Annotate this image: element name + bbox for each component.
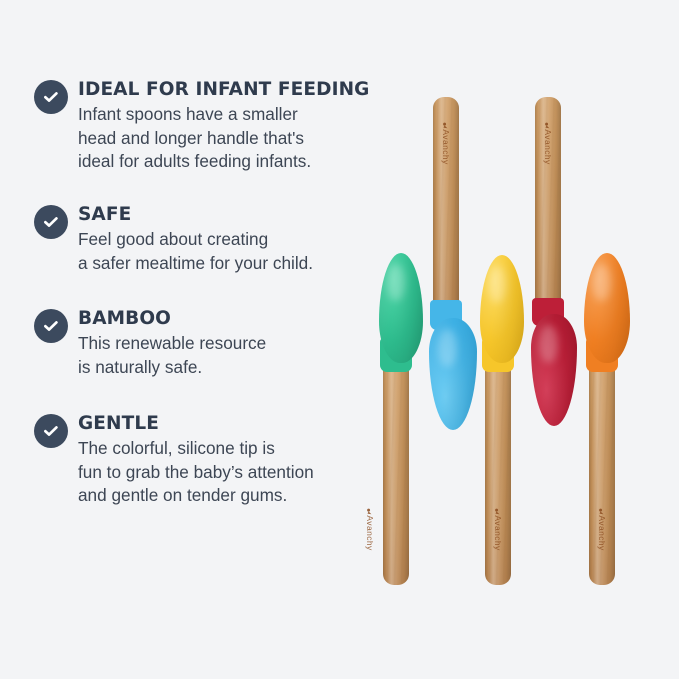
orange-spoon-bowl — [584, 253, 630, 363]
feature-item-gentle: GENTLE The colorful, silicone tip is fun… — [34, 412, 374, 507]
product-photo-spoon-set: Avanchy Avanchy — [370, 0, 679, 679]
avanchy-logo-mark — [495, 502, 502, 509]
feature-list: IDEAL FOR INFANT FEEDING Infant spoons h… — [34, 78, 374, 507]
avanchy-logo-mark — [443, 116, 450, 123]
yellow-spoon-brand-text: Avanchy — [493, 515, 503, 550]
orange-spoon-handle — [589, 360, 615, 585]
avanchy-logo-mark — [367, 502, 374, 509]
product-feature-infographic: IDEAL FOR INFANT FEEDING Infant spoons h… — [0, 0, 679, 679]
feature-item-safe: SAFE Feel good about creating a safer me… — [34, 203, 374, 275]
feature-body: Infant spoons have a smaller head and lo… — [78, 103, 374, 173]
red-spoon-brand-text: Avanchy — [543, 129, 553, 164]
check-circle-icon — [34, 205, 68, 239]
feature-body: This renewable resource is naturally saf… — [78, 332, 374, 379]
yellow-spoon-handle — [485, 360, 511, 585]
feature-item-ideal-for-infant-feeding: IDEAL FOR INFANT FEEDING Infant spoons h… — [34, 78, 374, 173]
red-spoon-bowl — [531, 314, 577, 426]
green-spoon-handle — [383, 360, 409, 585]
blue-spoon-brand-text: Avanchy — [441, 129, 451, 164]
feature-title: SAFE — [78, 203, 374, 226]
check-circle-icon — [34, 80, 68, 114]
check-circle-icon — [34, 309, 68, 343]
feature-title: GENTLE — [78, 412, 374, 435]
blue-spoon-bowl — [429, 318, 477, 430]
yellow-spoon-bowl — [480, 255, 524, 363]
avanchy-logo-mark — [545, 116, 552, 123]
orange-spoon-brand-text: Avanchy — [597, 515, 607, 550]
feature-body: Feel good about creating a safer mealtim… — [78, 228, 374, 275]
feature-title: BAMBOO — [78, 307, 374, 330]
green-spoon-brand-text: Avanchy — [365, 515, 375, 550]
green-spoon-bowl — [379, 253, 423, 363]
feature-body: The colorful, silicone tip is fun to gra… — [78, 437, 374, 507]
check-circle-icon — [34, 414, 68, 448]
feature-item-bamboo: BAMBOO This renewable resource is natura… — [34, 307, 374, 379]
avanchy-logo-mark — [599, 502, 606, 509]
feature-title: IDEAL FOR INFANT FEEDING — [78, 78, 374, 101]
